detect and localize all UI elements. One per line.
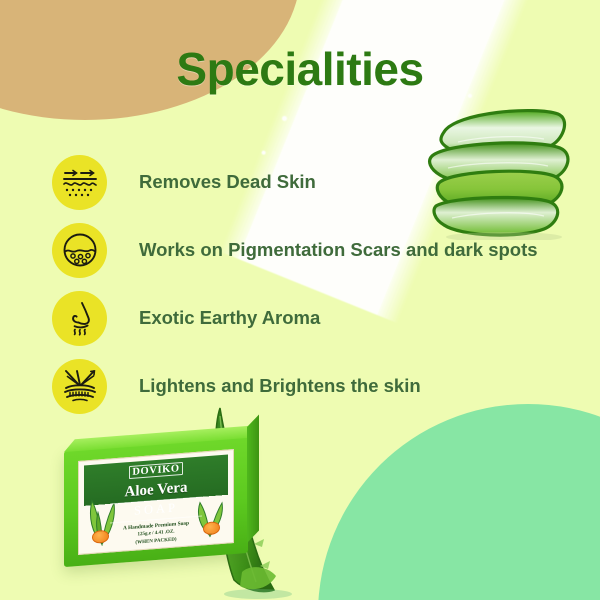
mint-corner-circle [318, 404, 600, 600]
nose-aroma-icon [52, 291, 107, 346]
feature-item[interactable]: Removes Dead Skin [52, 148, 572, 216]
feature-label: Removes Dead Skin [139, 171, 316, 193]
sun-rays-skin-icon [52, 359, 107, 414]
brand-name: DOVIKO [129, 462, 182, 479]
feature-label: Works on Pigmentation Scars and dark spo… [139, 239, 538, 261]
feature-item[interactable]: Lightens and Brightens the skin [52, 352, 572, 420]
soap-box-top-face [64, 425, 259, 452]
soap-label: DOVIKO Aloe Vera SOAP A Handmade Premium… [78, 449, 234, 555]
poster-canvas: Specialities [0, 0, 600, 600]
features-list: Removes Dead Skin Works on Pigmentation … [52, 148, 572, 420]
soap-product-box[interactable]: DOVIKO Aloe Vera SOAP A Handmade Premium… [64, 437, 248, 567]
page-title: Specialities [0, 42, 600, 96]
feature-label: Exotic Earthy Aroma [139, 307, 320, 329]
feature-item[interactable]: Works on Pigmentation Scars and dark spo… [52, 216, 572, 284]
soap-label-inner: DOVIKO Aloe Vera SOAP A Handmade Premium… [84, 454, 228, 549]
pigmentation-spots-icon [52, 223, 107, 278]
feature-label: Lightens and Brightens the skin [139, 375, 421, 397]
soap-box-side-face [247, 414, 259, 543]
exfoliation-icon [52, 155, 107, 210]
feature-item[interactable]: Exotic Earthy Aroma [52, 284, 572, 352]
